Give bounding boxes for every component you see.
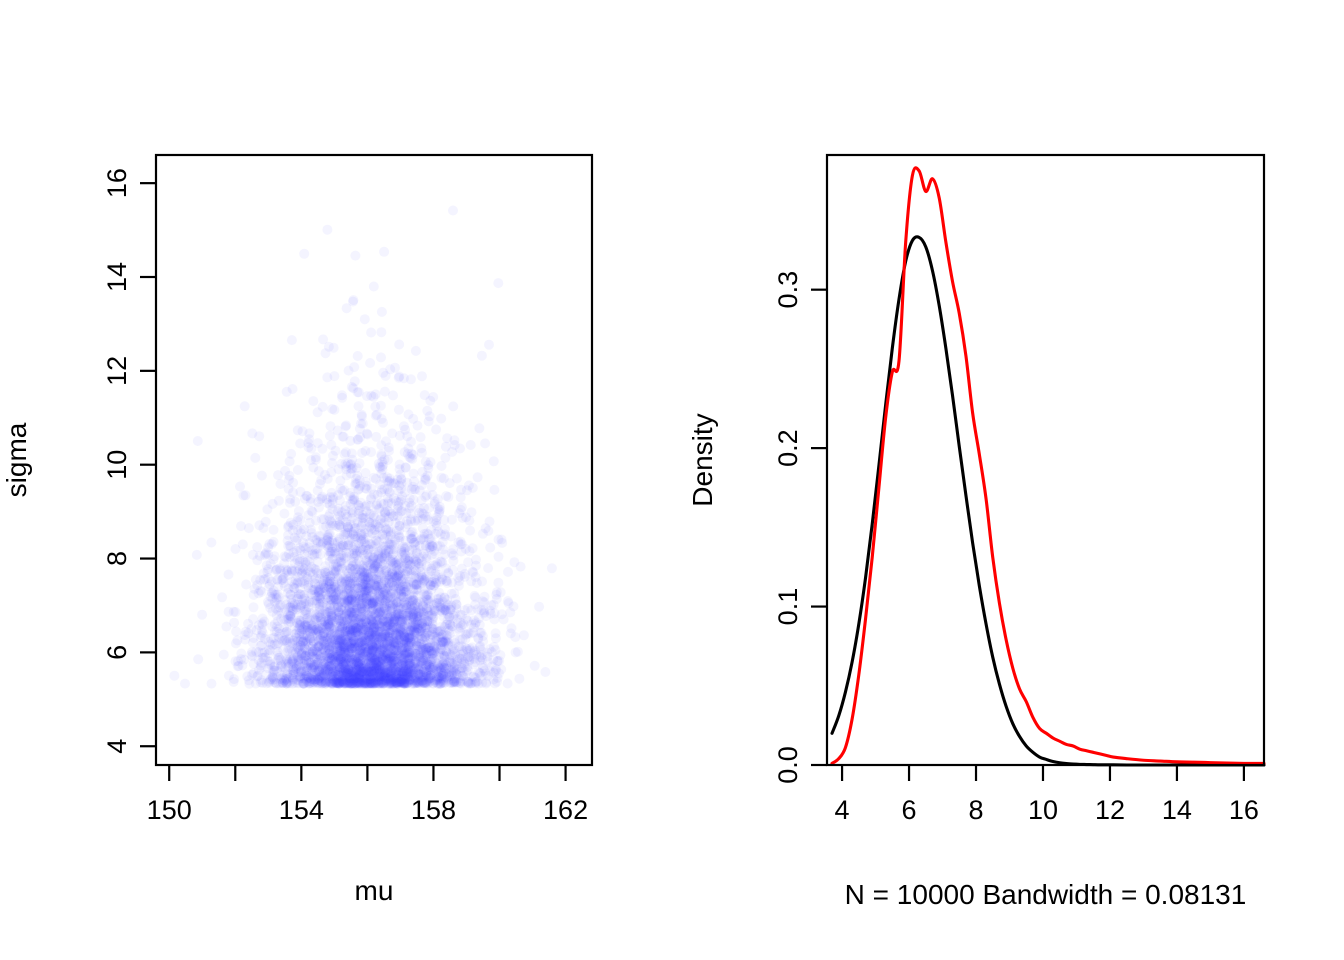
scatter-point: [439, 515, 449, 525]
scatter-point: [371, 411, 381, 421]
scatter-point: [484, 340, 494, 350]
scatter-point: [270, 551, 280, 561]
scatter-point: [462, 629, 472, 639]
scatter-point: [314, 466, 324, 476]
scatter-point: [478, 631, 488, 641]
scatter-point: [449, 664, 459, 674]
scatter-point: [251, 647, 261, 657]
scatter-point: [229, 674, 239, 684]
scatter-point: [457, 502, 467, 512]
scatter-point: [308, 396, 318, 406]
scatter-point: [441, 491, 451, 501]
scatter-point: [267, 588, 277, 598]
scatter-point: [295, 439, 305, 449]
scatter-point: [404, 409, 414, 419]
scatter-point: [379, 247, 389, 257]
scatter-point: [303, 510, 313, 520]
scatter-panel: 150154158162mu46810121416sigma: [0, 0, 672, 960]
scatter-point: [395, 431, 405, 441]
scatter-point-cloud: [169, 206, 557, 689]
scatter-point: [374, 549, 384, 559]
scatter-point: [350, 480, 360, 490]
scatter-point: [388, 550, 398, 560]
scatter-point: [422, 512, 432, 522]
scatter-point: [350, 251, 360, 261]
scatter-point: [459, 646, 469, 656]
scatter-point: [483, 526, 493, 536]
scatter-point: [261, 517, 271, 527]
scatter-point: [416, 432, 426, 442]
scatter-point: [392, 526, 402, 536]
scatter-point: [547, 563, 557, 573]
scatter-point: [235, 482, 245, 492]
scatter-point: [294, 661, 304, 671]
scatter-point: [431, 578, 441, 588]
scatter-point: [279, 614, 289, 624]
scatter-point: [435, 502, 445, 512]
scatter-point: [428, 392, 438, 402]
scatter-point: [371, 432, 381, 442]
scatter-point: [471, 617, 481, 627]
scatter-point: [206, 538, 216, 548]
scatter-point: [284, 521, 294, 531]
scatter-point: [374, 564, 384, 574]
scatter-point: [451, 594, 461, 604]
scatter-point: [244, 523, 254, 533]
scatter-point: [217, 592, 227, 602]
scatter-point: [323, 593, 333, 603]
scatter-point: [329, 405, 339, 415]
scatter-point: [437, 558, 447, 568]
scatter-point: [426, 525, 436, 535]
scatter-point: [473, 472, 483, 482]
scatter-point: [388, 390, 398, 400]
scatter-point: [491, 628, 501, 638]
scatter-point: [395, 464, 405, 474]
scatter-point: [275, 629, 285, 639]
scatter-point: [197, 610, 207, 620]
scatter-point: [485, 517, 495, 527]
scatter-point: [447, 548, 457, 558]
scatter-point: [288, 601, 298, 611]
scatter-point: [450, 440, 460, 450]
scatter-point: [357, 410, 367, 420]
scatter-point: [231, 627, 241, 637]
scatter-point: [345, 491, 355, 501]
scatter-point: [193, 654, 203, 664]
scatter-point: [238, 491, 248, 501]
scatter-point: [341, 420, 351, 430]
scatter-point: [193, 436, 203, 446]
scatter-point: [493, 578, 503, 588]
scatter-point: [425, 411, 435, 421]
scatter-plot: 150154158162mu46810121416sigma: [0, 0, 672, 960]
scatter-point: [436, 473, 446, 483]
scatter-point: [494, 535, 504, 545]
scatter-point: [238, 539, 248, 549]
scatter-point: [415, 504, 425, 514]
scatter-point: [283, 588, 293, 598]
scatter-point: [180, 679, 190, 689]
scatter-point: [349, 362, 359, 372]
scatter-point: [469, 654, 479, 664]
scatter-point: [336, 484, 346, 494]
scatter-point: [353, 434, 363, 444]
scatter-point: [219, 650, 229, 660]
scatter-point: [350, 376, 360, 386]
scatter-point: [420, 574, 430, 584]
scatter-point: [353, 500, 363, 510]
scatter-point: [369, 473, 379, 483]
scatter-point: [372, 501, 382, 511]
scatter-point: [369, 282, 379, 292]
scatter-point: [406, 374, 416, 384]
scatter-point: [224, 570, 234, 580]
scatter-point: [233, 661, 243, 671]
scatter-point: [394, 340, 404, 350]
scatter-point: [421, 667, 431, 677]
scatter-point: [534, 602, 544, 612]
scatter-point: [360, 314, 370, 324]
scatter-point: [446, 650, 456, 660]
scatter-point: [332, 562, 342, 572]
scatter-point: [417, 371, 427, 381]
scatter-point: [248, 550, 258, 560]
scatter-point: [477, 671, 487, 681]
scatter-point: [369, 392, 379, 402]
scatter-point: [270, 619, 280, 629]
scatter-point: [460, 605, 470, 615]
scatter-point: [284, 471, 294, 481]
scatter-point: [240, 401, 250, 411]
scatter-point: [406, 437, 416, 447]
scatter-point: [322, 372, 332, 382]
scatter-point: [276, 479, 286, 489]
scatter-point: [255, 575, 265, 585]
scatter-point: [471, 572, 481, 582]
scatter-point: [461, 614, 471, 624]
scatter-point: [494, 552, 504, 562]
scatter-point: [376, 401, 386, 411]
scatter-point: [320, 632, 330, 642]
scatter-point: [396, 495, 406, 505]
scatter-point: [465, 679, 475, 689]
scatter-point: [299, 524, 309, 534]
scatter-point: [348, 297, 358, 307]
scatter-point: [303, 660, 313, 670]
scatter-point: [365, 358, 375, 368]
scatter-point: [317, 444, 327, 454]
scatter-point: [284, 634, 294, 644]
scatter-point: [468, 483, 478, 493]
scatter-point: [513, 647, 523, 657]
scatter-point: [411, 346, 421, 356]
scatter-point: [327, 458, 337, 468]
scatter-point: [519, 630, 529, 640]
scatter-point: [384, 517, 394, 527]
scatter-point: [373, 575, 383, 585]
scatter-point: [320, 566, 330, 576]
scatter-point: [438, 545, 448, 555]
scatter-point: [415, 597, 425, 607]
scatter-point: [354, 401, 364, 411]
scatter-point: [295, 577, 305, 587]
scatter-point: [337, 390, 347, 400]
scatter-point: [384, 446, 394, 456]
scatter-point: [410, 573, 420, 583]
scatter-point: [448, 401, 458, 411]
scatter-point: [250, 453, 260, 463]
scatter-point: [394, 405, 404, 415]
scatter-point: [493, 278, 503, 288]
scatter-point: [436, 414, 446, 424]
scatter-point: [429, 600, 439, 610]
scatter-point: [489, 456, 499, 466]
scatter-point: [366, 328, 376, 338]
scatter-point: [242, 671, 252, 681]
scatter-point: [282, 387, 292, 397]
scatter-point: [327, 605, 337, 615]
scatter-point: [288, 488, 298, 498]
scatter-point: [428, 620, 438, 630]
scatter-point: [466, 440, 476, 450]
scatter-point: [489, 600, 499, 610]
scatter-point: [306, 562, 316, 572]
scatter-point: [322, 225, 332, 235]
scatter-point: [293, 465, 303, 475]
scatter-point: [396, 475, 406, 485]
scatter-point: [241, 580, 251, 590]
scatter-point: [323, 474, 333, 484]
scatter-point: [269, 525, 279, 535]
scatter-point: [474, 423, 484, 433]
scatter-point: [249, 602, 259, 612]
scatter-point: [464, 516, 474, 526]
scatter-point: [428, 560, 438, 570]
scatter-point: [514, 674, 524, 684]
scatter-point: [503, 596, 513, 606]
scatter-point: [304, 434, 314, 444]
scatter-point: [480, 438, 490, 448]
scatter-point: [377, 307, 387, 317]
scatter-point: [324, 342, 334, 352]
scatter-point: [294, 506, 304, 516]
scatter-point: [409, 495, 419, 505]
scatter-point: [247, 428, 257, 438]
scatter-point: [465, 526, 475, 536]
scatter-point: [298, 426, 308, 436]
scatter-point: [540, 667, 550, 677]
scatter-point: [374, 459, 384, 469]
scatter-point: [192, 550, 202, 560]
scatter-point: [279, 509, 289, 519]
scatter-point: [224, 607, 234, 617]
scatter-point: [463, 557, 473, 567]
figure-canvas: 150154158162mu46810121416sigma 468101214…: [0, 0, 1344, 960]
scatter-point: [409, 469, 419, 479]
scatter-point: [340, 449, 350, 459]
scatter-point: [289, 548, 299, 558]
scatter-point: [290, 497, 300, 507]
scatter-point: [390, 363, 400, 373]
scatter-point: [169, 671, 179, 681]
scatter-point: [257, 471, 267, 481]
scatter-point: [341, 461, 351, 471]
scatter-point: [483, 563, 493, 573]
scatter-point: [456, 547, 466, 557]
scatter-point: [229, 618, 239, 628]
scatter-point: [503, 567, 513, 577]
scatter-point: [448, 206, 458, 216]
scatter-point: [292, 516, 302, 526]
scatter-point: [378, 368, 388, 378]
scatter-point: [440, 453, 450, 463]
scatter-point: [259, 617, 269, 627]
scatter-point: [328, 617, 338, 627]
scatter-point: [256, 632, 266, 642]
scatter-point: [287, 335, 297, 345]
scatter-point: [333, 587, 343, 597]
scatter-point: [436, 529, 446, 539]
scatter-point: [312, 549, 322, 559]
scatter-point: [339, 432, 349, 442]
scatter-point: [396, 506, 406, 516]
scatter-point: [285, 456, 295, 466]
scatter-point: [530, 661, 540, 671]
scatter-point: [470, 593, 480, 603]
scatter-point: [503, 679, 513, 689]
scatter-point: [261, 549, 271, 559]
scatter-point: [318, 402, 328, 412]
scatter-point: [417, 448, 427, 458]
scatter-point: [394, 372, 404, 382]
scatter-point: [376, 327, 386, 337]
scatter-point: [385, 488, 395, 498]
scatter-point: [356, 419, 366, 429]
scatter-point: [335, 511, 345, 521]
scatter-point: [445, 478, 455, 488]
scatter-point: [273, 470, 283, 480]
scatter-point: [241, 627, 251, 637]
scatter-point: [492, 587, 502, 597]
scatter-point: [509, 557, 519, 567]
scatter-point: [489, 485, 499, 495]
scatter-point: [262, 504, 272, 514]
scatter-point: [207, 679, 217, 689]
scatter-point: [295, 557, 305, 567]
scatter-point: [361, 446, 371, 456]
scatter-point: [306, 455, 316, 465]
scatter-point: [383, 538, 393, 548]
scatter-point: [299, 249, 309, 259]
scatter-point: [312, 535, 322, 545]
